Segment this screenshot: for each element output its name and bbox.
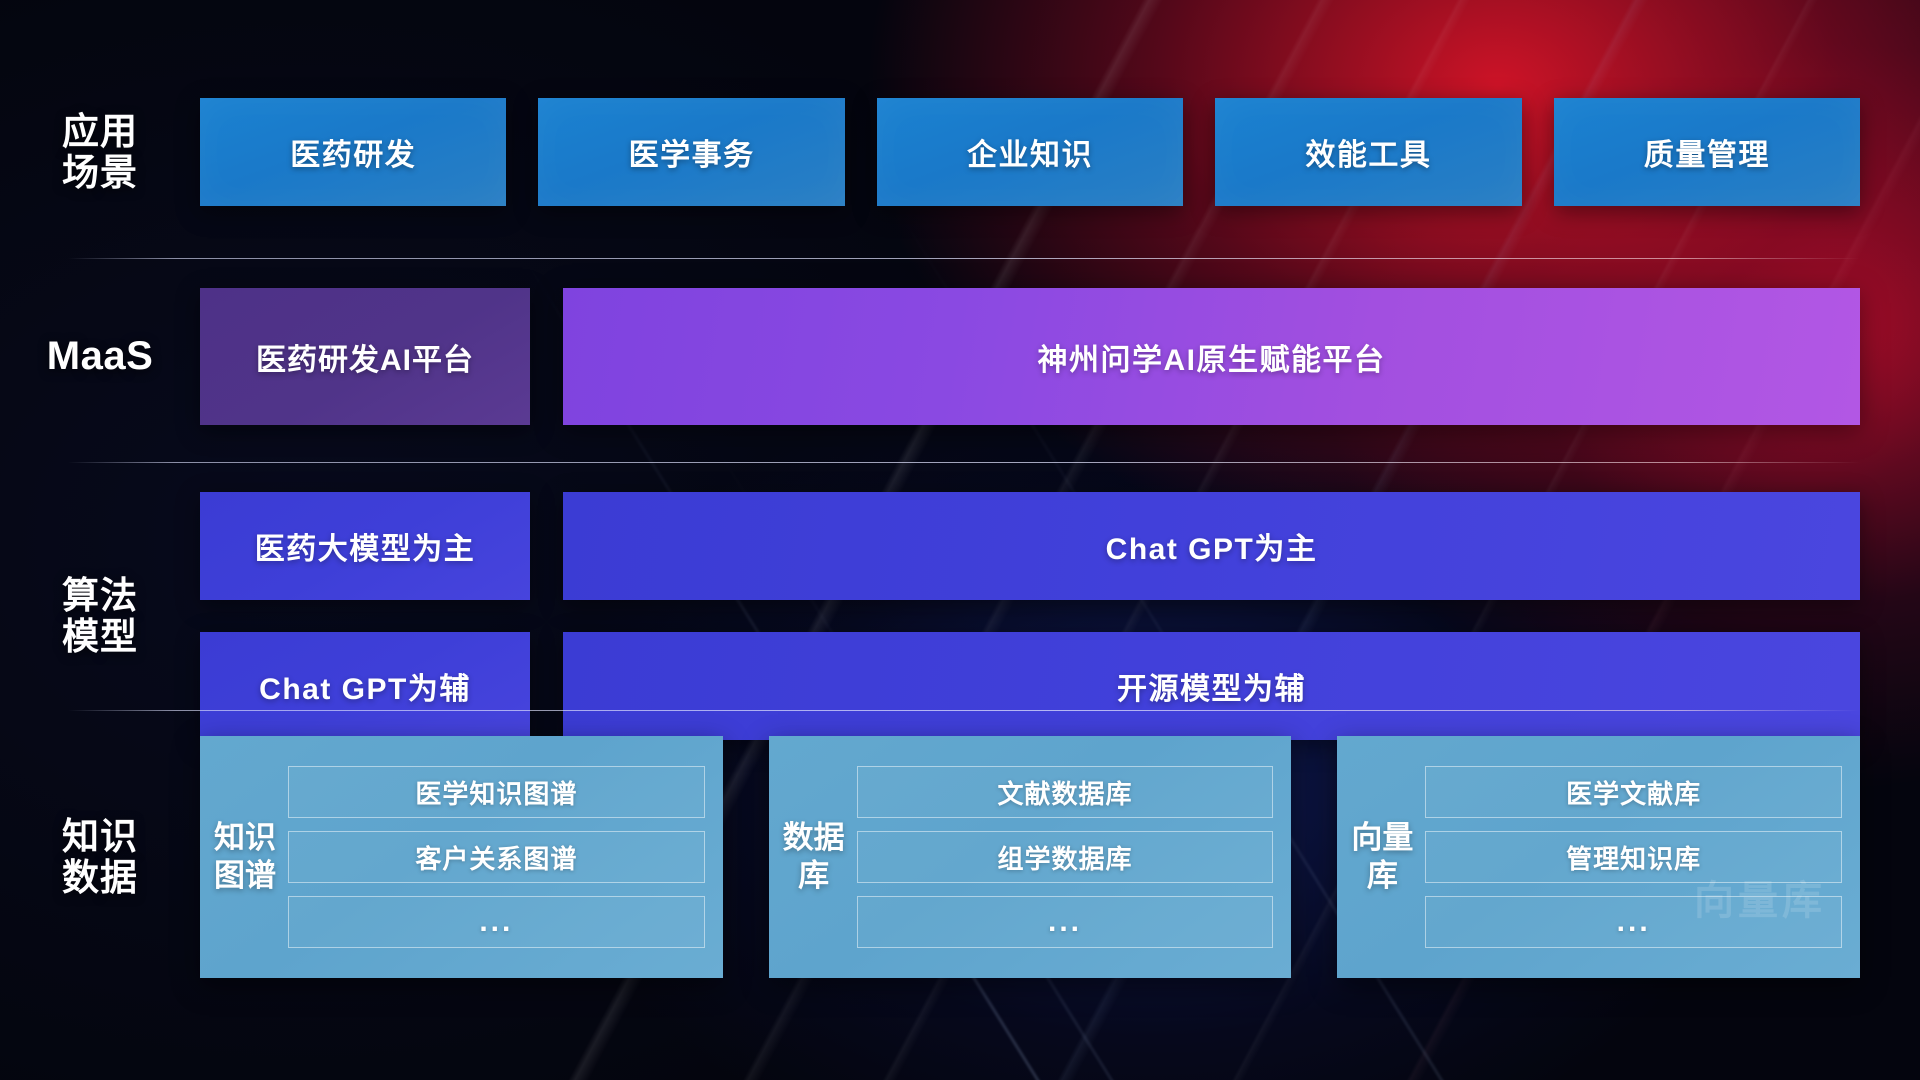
algorithm-box-label: 开源模型为辅	[1117, 664, 1306, 708]
knowledge-item[interactable]: 客户关系图谱	[288, 831, 705, 883]
maas-box-group: 医药研发AI平台 神州问学AI原生赋能平台	[200, 288, 1920, 425]
row-label-maas: MaaS	[0, 334, 200, 379]
scenario-box-label: 医药研发	[290, 130, 416, 174]
algorithm-box-group: 医药大模型为主 Chat GPT为主 Chat GPT为辅 开源模型为辅	[200, 492, 1920, 740]
knowledge-item[interactable]: 管理知识库	[1425, 831, 1842, 883]
knowledge-item-list: 医学知识图谱 客户关系图谱 ...	[288, 766, 705, 948]
row-divider-1	[68, 258, 1860, 259]
scenario-box-label: 企业知识	[967, 130, 1093, 174]
knowledge-item[interactable]: 医学知识图谱	[288, 766, 705, 818]
knowledge-item[interactable]: 医学文献库	[1425, 766, 1842, 818]
knowledge-item-more[interactable]: ...	[857, 896, 1274, 948]
maas-box-drug-rd-ai-platform[interactable]: 医药研发AI平台	[200, 288, 530, 425]
scenario-box-label: 医学事务	[629, 130, 755, 174]
algorithm-row-secondary: Chat GPT为辅 开源模型为辅	[200, 632, 1860, 740]
knowledge-card-title: 向量库	[1351, 819, 1413, 895]
architecture-diagram-canvas: 应用 场景 医药研发 医学事务 企业知识 效能工具 质量管理	[0, 0, 1920, 1080]
knowledge-item-list: 医学文献库 管理知识库 ...	[1425, 766, 1842, 948]
knowledge-card-vector-store[interactable]: 向量库 医学文献库 管理知识库 ... 向量库	[1337, 736, 1860, 978]
knowledge-card-knowledge-graph[interactable]: 知识图谱 医学知识图谱 客户关系图谱 ...	[200, 736, 723, 978]
row-knowledge-data: 知识 数据 知识图谱 医学知识图谱 客户关系图谱 ... 数据库 文献数据库 组…	[0, 736, 1920, 978]
row-algorithm-models: 算法 模型 医药大模型为主 Chat GPT为主 Chat GPT为辅 开源模型…	[0, 492, 1920, 740]
row-maas: MaaS 医药研发AI平台 神州问学AI原生赋能平台	[0, 288, 1920, 425]
algorithm-box-label: Chat GPT为主	[1106, 524, 1318, 568]
algorithm-box-label: 医药大模型为主	[255, 524, 476, 568]
algorithm-box-chatgpt-primary[interactable]: Chat GPT为主	[563, 492, 1860, 600]
knowledge-card-group: 知识图谱 医学知识图谱 客户关系图谱 ... 数据库 文献数据库 组学数据库 .…	[200, 736, 1920, 978]
row-application-scenarios: 应用 场景 医药研发 医学事务 企业知识 效能工具 质量管理	[0, 98, 1920, 206]
scenario-box-enterprise-knowledge[interactable]: 企业知识	[877, 98, 1183, 206]
knowledge-item-more[interactable]: ...	[288, 896, 705, 948]
row-label-application-scenarios: 应用 场景	[0, 111, 200, 194]
row-label-algorithm-models: 算法 模型	[0, 575, 200, 658]
row-divider-2	[68, 462, 1860, 463]
maas-box-label: 医药研发AI平台	[256, 335, 474, 379]
knowledge-card-title: 知识图谱	[214, 819, 276, 895]
row-divider-3	[68, 710, 1860, 711]
knowledge-card-database[interactable]: 数据库 文献数据库 组学数据库 ...	[769, 736, 1292, 978]
maas-box-shenzhou-wenxue-platform[interactable]: 神州问学AI原生赋能平台	[563, 288, 1860, 425]
knowledge-item-list: 文献数据库 组学数据库 ...	[857, 766, 1274, 948]
scenario-box-drug-rd[interactable]: 医药研发	[200, 98, 506, 206]
algorithm-row-primary: 医药大模型为主 Chat GPT为主	[200, 492, 1860, 600]
scenario-box-efficiency-tools[interactable]: 效能工具	[1215, 98, 1521, 206]
algorithm-box-label: Chat GPT为辅	[259, 664, 471, 708]
algorithm-box-pharma-llm-primary[interactable]: 医药大模型为主	[200, 492, 530, 600]
knowledge-item-more[interactable]: ...	[1425, 896, 1842, 948]
algorithm-box-opensource-secondary[interactable]: 开源模型为辅	[563, 632, 1860, 740]
scenario-box-label: 质量管理	[1644, 130, 1770, 174]
scenario-box-group: 医药研发 医学事务 企业知识 效能工具 质量管理	[200, 98, 1920, 206]
scenario-box-label: 效能工具	[1305, 130, 1431, 174]
scenario-box-medical-affairs[interactable]: 医学事务	[538, 98, 844, 206]
maas-box-label: 神州问学AI原生赋能平台	[1038, 335, 1386, 379]
knowledge-card-title: 数据库	[783, 819, 845, 895]
knowledge-item[interactable]: 组学数据库	[857, 831, 1274, 883]
scenario-box-quality-management[interactable]: 质量管理	[1554, 98, 1860, 206]
algorithm-box-chatgpt-secondary[interactable]: Chat GPT为辅	[200, 632, 530, 740]
knowledge-item[interactable]: 文献数据库	[857, 766, 1274, 818]
row-label-knowledge-data: 知识 数据	[0, 816, 200, 899]
